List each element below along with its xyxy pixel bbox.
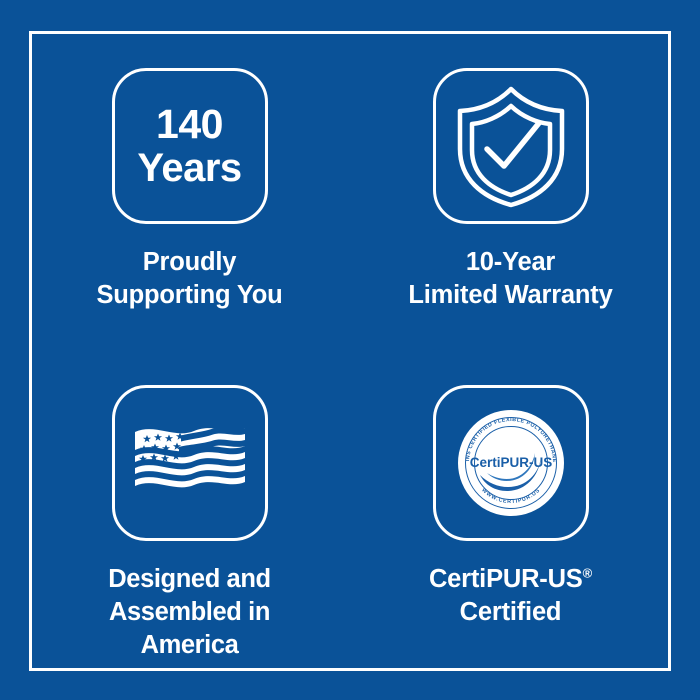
usa-flag-icon-box — [112, 385, 268, 541]
badge-america-caption: Designed and Assembled in America — [108, 563, 270, 662]
badge-warranty: 10-Year Limited Warranty — [350, 31, 671, 351]
badge-grid: 140 Years Proudly Supporting You 10-Year… — [29, 31, 671, 671]
years-word: Years — [137, 146, 241, 190]
promo-poster: 140 Years Proudly Supporting You 10-Year… — [0, 0, 700, 700]
registered-trademark-icon: ® — [583, 566, 592, 581]
badge-certipur: CertiPUR-US CONTAINS CERTIFIED FLEXIBLE … — [350, 351, 671, 671]
badge-years: 140 Years Proudly Supporting You — [29, 31, 350, 351]
shield-check-icon — [451, 83, 571, 209]
badge-warranty-caption: 10-Year Limited Warranty — [408, 246, 612, 312]
certipur-us-seal-icon: CertiPUR-US CONTAINS CERTIFIED FLEXIBLE … — [455, 407, 567, 519]
shield-check-icon-box — [433, 68, 589, 224]
years-badge-icon: 140 Years — [112, 68, 268, 224]
usa-flag-icon — [131, 419, 249, 507]
certipur-us-seal-icon-box: CertiPUR-US CONTAINS CERTIFIED FLEXIBLE … — [433, 385, 589, 541]
badge-america: Designed and Assembled in America — [29, 351, 350, 671]
certipur-caption-main: CertiPUR-US — [429, 565, 583, 593]
certipur-seal-center-text: CertiPUR-US — [469, 455, 552, 470]
certipur-caption-second: Certified — [460, 598, 562, 626]
badge-certipur-caption: CertiPUR-US® Certified — [429, 563, 592, 629]
badge-years-caption: Proudly Supporting You — [96, 246, 282, 312]
years-number: 140 — [156, 102, 223, 146]
